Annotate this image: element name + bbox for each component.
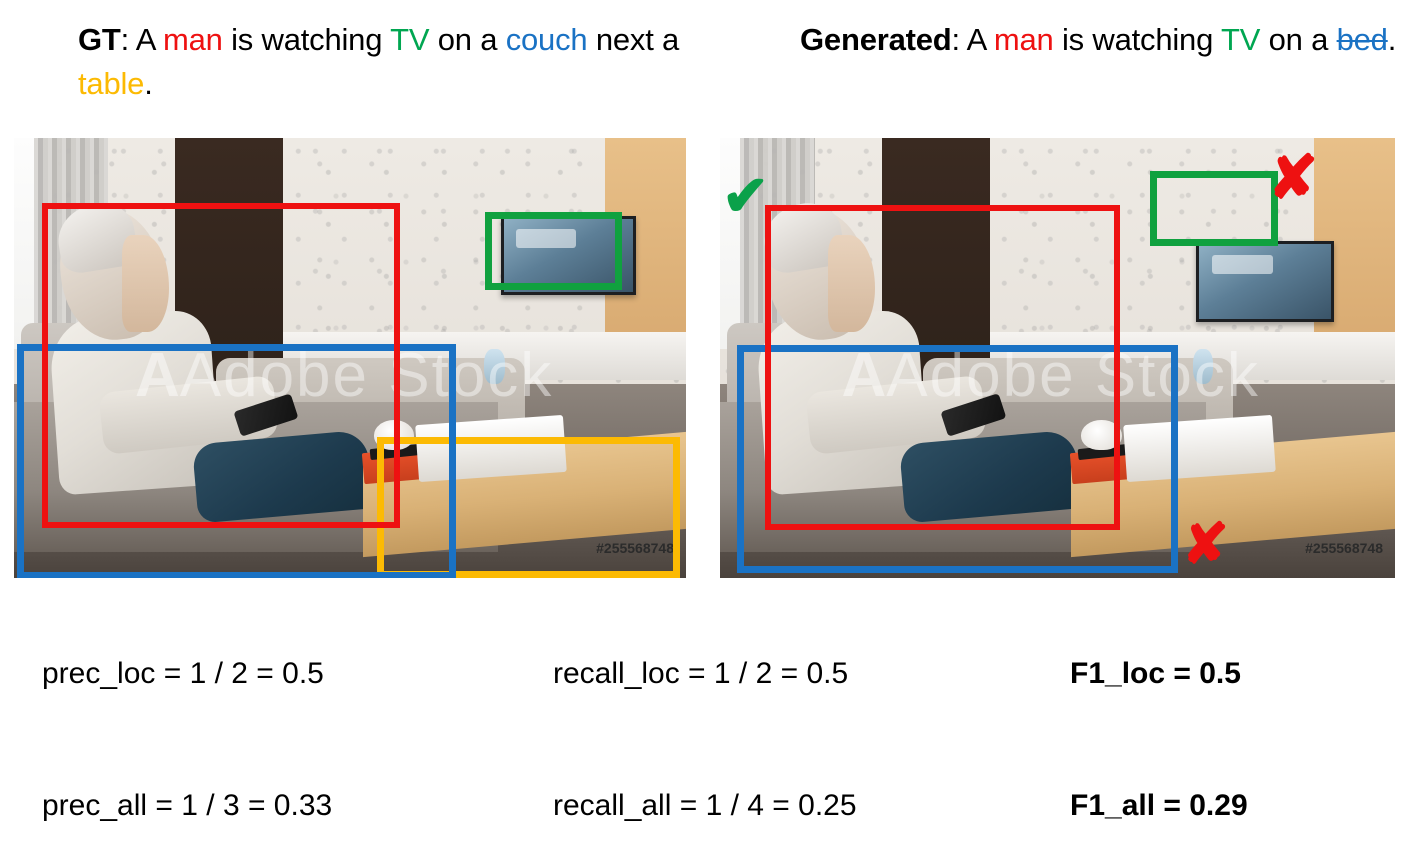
gt-seg1: A (136, 22, 163, 57)
watermark-id: #255568748 (1305, 540, 1383, 556)
generated-label: Generated (800, 22, 952, 57)
metric-prec-loc: prec_loc = 1 / 2 = 0.5 (42, 657, 324, 691)
bbox-tv (1150, 171, 1278, 246)
gen-word-man: man (994, 22, 1054, 57)
gt-seg5: . (144, 66, 152, 101)
gt-image-panel: AAdobe Stock #255568748 (14, 138, 686, 578)
gen-word-bed: bed (1337, 22, 1388, 57)
metric-recall-loc: recall_loc = 1 / 2 = 0.5 (553, 657, 848, 691)
metric-recall-all: recall_all = 1 / 4 = 0.25 (553, 789, 857, 823)
gt-word-tv: TV (390, 22, 429, 57)
metric-f1-all: F1_all = 0.29 (1070, 789, 1248, 823)
gt-caption: GT: A man is watching TV on a couch next… (78, 18, 698, 106)
bbox-man (765, 205, 1120, 530)
x-icon-tv: ✘ (1268, 148, 1318, 208)
check-icon-man: ✔ (722, 168, 769, 224)
gt-label: GT (78, 22, 121, 57)
metric-f1-loc: F1_loc = 0.5 (1070, 657, 1241, 691)
gen-seg2: is watching (1054, 22, 1221, 57)
gen-seg4: . (1388, 22, 1396, 57)
gen-seg3: on a (1260, 22, 1336, 57)
gt-seg3: on a (429, 22, 505, 57)
gen-colon: : (952, 22, 967, 57)
gen-word-tv: TV (1221, 22, 1260, 57)
bbox-tv (485, 212, 622, 290)
gt-word-table: table (78, 66, 144, 101)
gt-word-man: man (163, 22, 223, 57)
tv-screen (1196, 241, 1334, 322)
metric-prec-all: prec_all = 1 / 3 = 0.33 (42, 789, 332, 823)
gen-seg1: A (967, 22, 994, 57)
generated-caption: Generated: A man is watching TV on a bed… (800, 18, 1400, 62)
gt-seg2: is watching (223, 22, 390, 57)
gt-colon: : (121, 22, 136, 57)
gt-word-couch: couch (506, 22, 588, 57)
gt-seg4: next a (587, 22, 679, 57)
generated-image-panel: AAdobe Stock #255568748 ✔ ✘ ✘ (720, 138, 1395, 578)
lamp (1193, 349, 1213, 384)
bbox-man (42, 203, 400, 528)
lamp (484, 349, 504, 384)
x-icon-bed: ✘ (1182, 516, 1229, 572)
